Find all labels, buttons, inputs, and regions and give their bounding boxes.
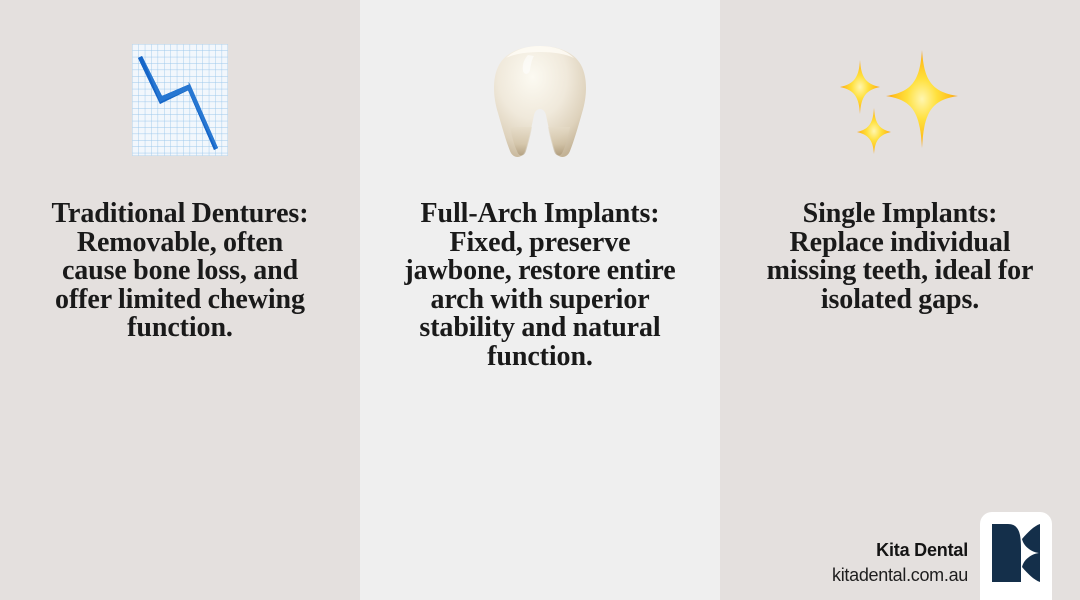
brand-text: Kita Dental kitadental.com.au: [832, 538, 968, 600]
tooth-icon: [484, 41, 596, 159]
brand-url[interactable]: kitadental.com.au: [832, 562, 968, 588]
brand-logo[interactable]: [980, 512, 1052, 600]
brand-name: Kita Dental: [832, 538, 968, 562]
panel-body-full-arch-implants: Fixed, preserve jawbone, restore entire …: [404, 227, 675, 372]
panel-heading-traditional-dentures: Traditional Dentures:: [52, 198, 309, 229]
infographic-canvas: Traditional Dentures: Removable, often c…: [0, 0, 1080, 600]
panel-heading-full-arch-implants: Full-Arch Implants:: [421, 198, 660, 229]
sparkles-icon-wrap: [720, 0, 1080, 200]
panel-body-traditional-dentures: Removable, often cause bone loss, and of…: [55, 227, 305, 344]
panel-single-implants: Single Implants: Replace individual miss…: [720, 0, 1080, 600]
panel-body-single-implants: Replace individual missing teeth, ideal …: [767, 227, 1034, 315]
panel-traditional-dentures: Traditional Dentures: Removable, often c…: [0, 0, 360, 600]
panel-text-full-arch-implants: Full-Arch Implants: Fixed, preserve jawb…: [404, 200, 676, 371]
panel-text-traditional-dentures: Traditional Dentures: Removable, often c…: [44, 200, 316, 343]
tooth-icon-wrap: [360, 0, 720, 200]
kita-dental-k-monogram-icon: [990, 522, 1042, 584]
panel-full-arch-implants: Full-Arch Implants: Fixed, preserve jawb…: [360, 0, 720, 600]
sparkles-icon: [838, 44, 962, 156]
chart-decreasing-icon: [132, 44, 228, 156]
chart-decreasing-icon-wrap: [0, 0, 360, 200]
panel-text-single-implants: Single Implants: Replace individual miss…: [764, 200, 1036, 314]
brand-block[interactable]: Kita Dental kitadental.com.au: [832, 512, 1080, 600]
panel-heading-single-implants: Single Implants:: [803, 198, 998, 229]
